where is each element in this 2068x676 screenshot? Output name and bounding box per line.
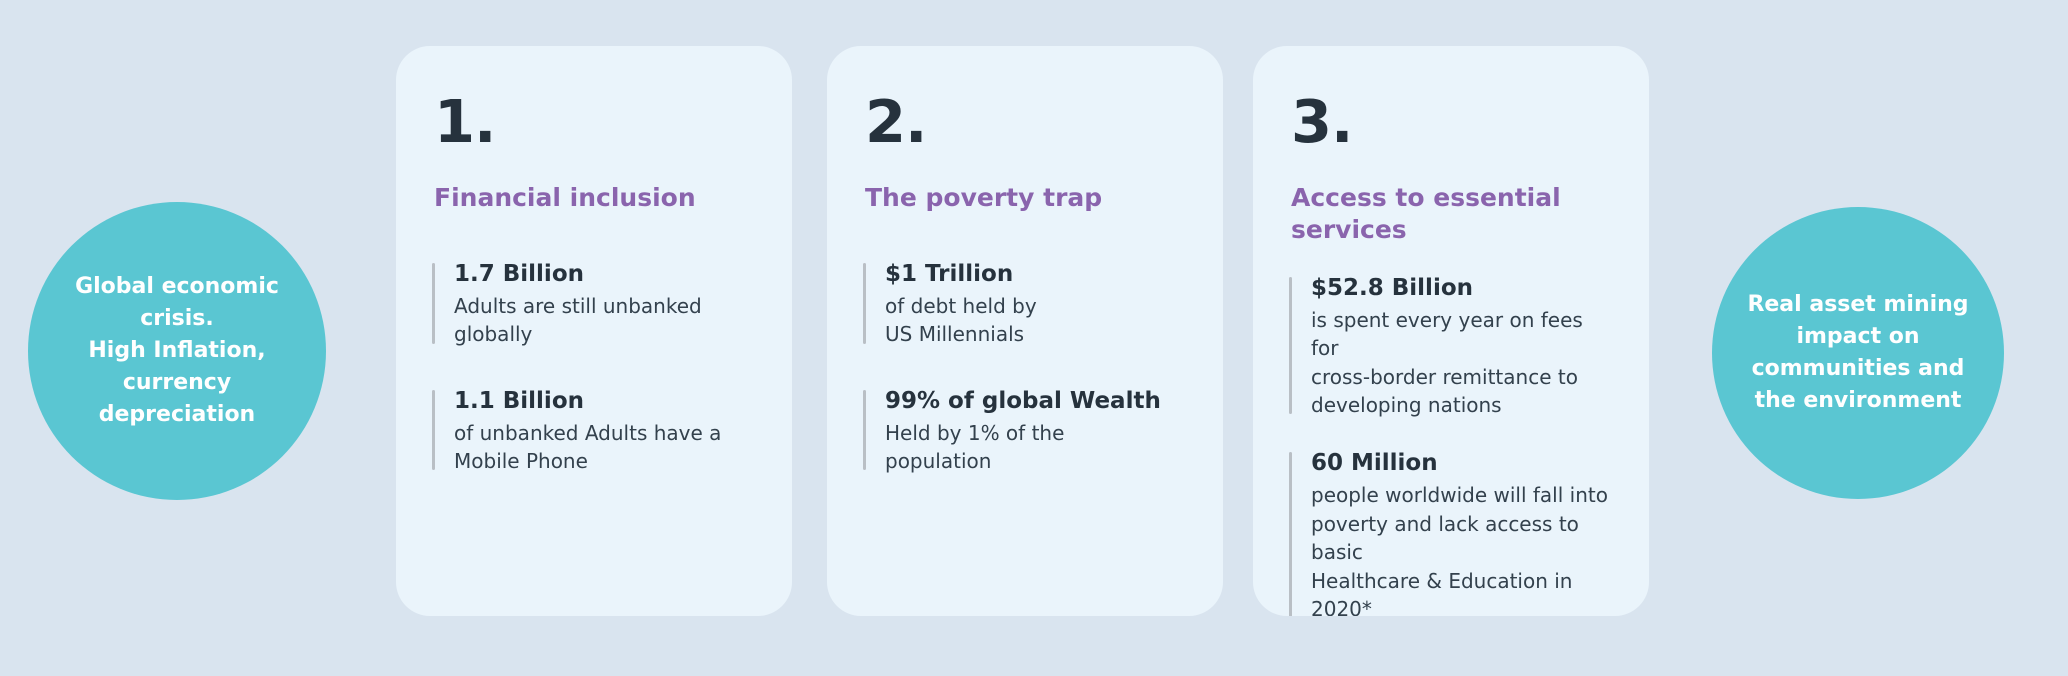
infographic-canvas: Global economic crisis. High Inflation, … bbox=[0, 0, 2068, 676]
right-circle-text: Real asset mining impact on communities … bbox=[1712, 289, 2004, 417]
stat-item: 60 Million people worldwide will fall in… bbox=[1289, 449, 1615, 616]
stat-value: 99% of global Wealth bbox=[885, 387, 1189, 417]
left-circle-text: Global economic crisis. High Inflation, … bbox=[28, 271, 326, 430]
stat-item: $52.8 Billion is spent every year on fee… bbox=[1289, 274, 1615, 419]
stat-description: Held by 1% of the population bbox=[885, 419, 1189, 476]
card-1-heading: Financial inclusion bbox=[434, 182, 758, 214]
stat-description: people worldwide will fall into poverty … bbox=[1311, 481, 1615, 616]
stat-value: 1.1 Billion bbox=[454, 387, 758, 417]
stat-item: 1.1 Billion of unbanked Adults have a Mo… bbox=[432, 387, 758, 476]
stat-description: Adults are still unbanked globally bbox=[454, 292, 758, 349]
stat-description: of unbanked Adults have a Mobile Phone bbox=[454, 419, 758, 476]
stat-value: 60 Million bbox=[1311, 449, 1615, 479]
card-1-number: 1. bbox=[434, 92, 758, 151]
card-2-number: 2. bbox=[865, 92, 1189, 151]
card-3-stats: $52.8 Billion is spent every year on fee… bbox=[1289, 274, 1615, 616]
stat-description: of debt held by US Millennials bbox=[885, 292, 1189, 349]
left-context-circle: Global economic crisis. High Inflation, … bbox=[28, 202, 326, 500]
stat-value: $1 Trillion bbox=[885, 260, 1189, 290]
stat-item: 99% of global Wealth Held by 1% of the p… bbox=[863, 387, 1189, 476]
card-3-number: 3. bbox=[1291, 92, 1615, 151]
right-context-circle: Real asset mining impact on communities … bbox=[1712, 207, 2004, 499]
card-1-stats: 1.7 Billion Adults are still unbanked gl… bbox=[432, 260, 758, 475]
card-poverty-trap: 2. The poverty trap $1 Trillion of debt … bbox=[827, 46, 1223, 616]
card-3-heading: Access to essential services bbox=[1291, 182, 1615, 246]
stat-value: $52.8 Billion bbox=[1311, 274, 1615, 304]
stat-description: is spent every year on fees for cross-bo… bbox=[1311, 306, 1615, 420]
card-2-heading: The poverty trap bbox=[865, 182, 1189, 214]
stat-item: $1 Trillion of debt held by US Millennia… bbox=[863, 260, 1189, 349]
card-financial-inclusion: 1. Financial inclusion 1.7 Billion Adult… bbox=[396, 46, 792, 616]
card-2-stats: $1 Trillion of debt held by US Millennia… bbox=[863, 260, 1189, 475]
stat-item: 1.7 Billion Adults are still unbanked gl… bbox=[432, 260, 758, 349]
card-access-to-essential-services: 3. Access to essential services $52.8 Bi… bbox=[1253, 46, 1649, 616]
stat-value: 1.7 Billion bbox=[454, 260, 758, 290]
